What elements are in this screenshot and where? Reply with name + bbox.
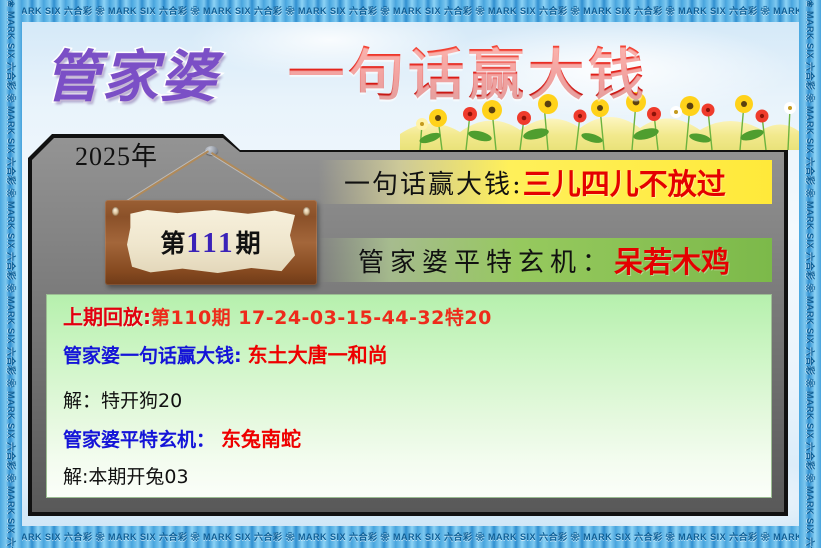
wooden-board: 第111期 [105,200,317,285]
board-hole-left [112,207,119,216]
band-green-label: 管家婆平特玄机： [318,242,614,279]
content-panel: 上期回放:第110期 17-24-03-15-44-32特20 管家婆一句话赢大… [46,294,772,498]
issue-suffix: 期 [236,229,262,258]
panel-row-prev-slogan: 管家婆一句话赢大钱:东土大唐一和尚 [47,345,771,366]
rope-left [126,150,209,203]
page-title-brand: 管家婆 [44,32,218,113]
panel-row-replay: 上期回放:第110期 17-24-03-15-44-32特20 [47,307,771,328]
border-right-text: ❀ MARK SIX 六合彩 ❀ MARK SIX 六合彩 ❀ MARK SIX… [799,0,821,548]
border-bottom: ❀ MARK SIX 六合彩 ❀ MARK SIX 六合彩 ❀ MARK SIX… [0,526,821,548]
replay-value: 第110期 17-24-03-15-44-32特20 [151,307,492,329]
answer-2-text: 解:本期开兔03 [63,466,189,488]
border-top-text: ❀ MARK SIX 六合彩 ❀ MARK SIX 六合彩 ❀ MARK SIX… [0,0,821,22]
band-yellow-value: 三儿四儿不放过 [523,161,726,203]
issue-number-text: 第111期 [160,224,261,260]
band-green-value: 呆若木鸡 [614,239,730,281]
border-right: ❀ MARK SIX 六合彩 ❀ MARK SIX 六合彩 ❀ MARK SIX… [799,0,821,548]
panel-row-answer-1: 解：特开狗20 [47,392,771,411]
border-left: ❀ MARK SIX 六合彩 ❀ MARK SIX 六合彩 ❀ MARK SIX… [0,0,22,548]
poster-canvas: 管家婆 一句话赢大钱 2025年 第111期 一句话赢大钱: 三儿四儿不放过 管… [0,0,821,548]
border-top: ❀ MARK SIX 六合彩 ❀ MARK SIX 六合彩 ❀ MARK SIX… [0,0,821,22]
issue-number: 111 [186,227,235,259]
replay-label: 上期回放: [63,305,151,329]
answer-1-text: 解：特开狗20 [63,390,182,412]
hanging-sign: 第111期 [96,148,326,288]
page-title-slogan: 一句话赢大钱 [288,30,648,111]
prev-xuanji-label: 管家婆平特玄机： [63,429,215,451]
rope-right [211,152,294,205]
panel-row-prev-xuanji: 管家婆平特玄机：东兔南蛇 [47,429,771,450]
border-left-text: ❀ MARK SIX 六合彩 ❀ MARK SIX 六合彩 ❀ MARK SIX… [0,0,22,548]
issue-prefix: 第 [160,229,186,258]
issue-paper: 第111期 [127,210,295,273]
border-bottom-text: ❀ MARK SIX 六合彩 ❀ MARK SIX 六合彩 ❀ MARK SIX… [0,526,821,548]
band-slogan-green: 管家婆平特玄机： 呆若木鸡 [318,238,772,282]
prev-xuanji-value: 东兔南蛇 [221,427,301,451]
prev-slogan-label: 管家婆一句话赢大钱: [63,345,242,367]
panel-row-answer-2: 解:本期开兔03 [47,468,771,487]
band-slogan-yellow: 一句话赢大钱: 三儿四儿不放过 [318,160,772,204]
band-yellow-label: 一句话赢大钱: [318,164,523,201]
prev-slogan-value: 东土大唐一和尚 [248,343,388,367]
board-hole-right [303,207,310,216]
